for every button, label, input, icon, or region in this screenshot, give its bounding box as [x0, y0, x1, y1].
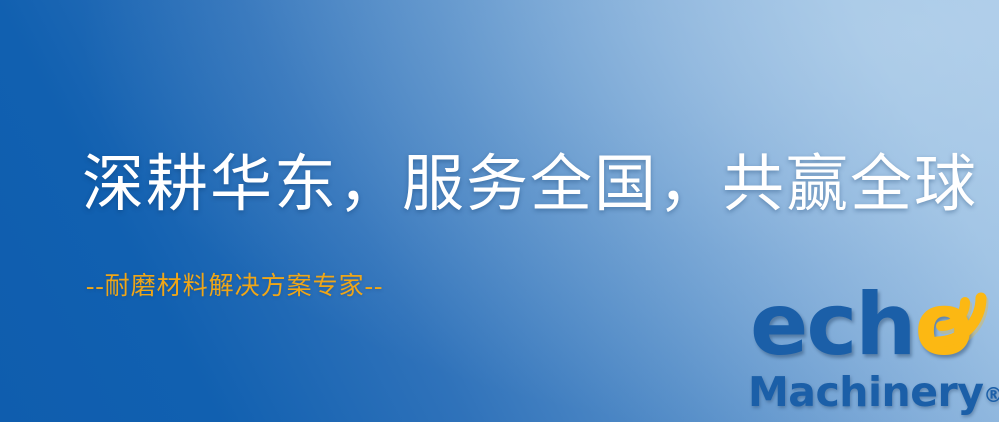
banner-subtitle: --耐磨材料解决方案专家--: [86, 266, 383, 302]
echo-machinery-logo: echo Machinery®: [746, 292, 999, 422]
signal-waves-icon: [927, 288, 999, 350]
logo-tagline-word: Machinery: [748, 368, 983, 416]
registered-trademark-icon: ®: [983, 383, 999, 407]
logo-brand-prefix: ech: [750, 275, 915, 375]
logo-wordmark: echo: [746, 292, 999, 380]
logo-tagline: Machinery®: [748, 372, 999, 413]
banner-headline: 深耕华东，服务全国，共赢全球: [82, 152, 978, 219]
promotional-banner: 深耕华东，服务全国，共赢全球 --耐磨材料解决方案专家-- echo Machi…: [0, 0, 999, 422]
